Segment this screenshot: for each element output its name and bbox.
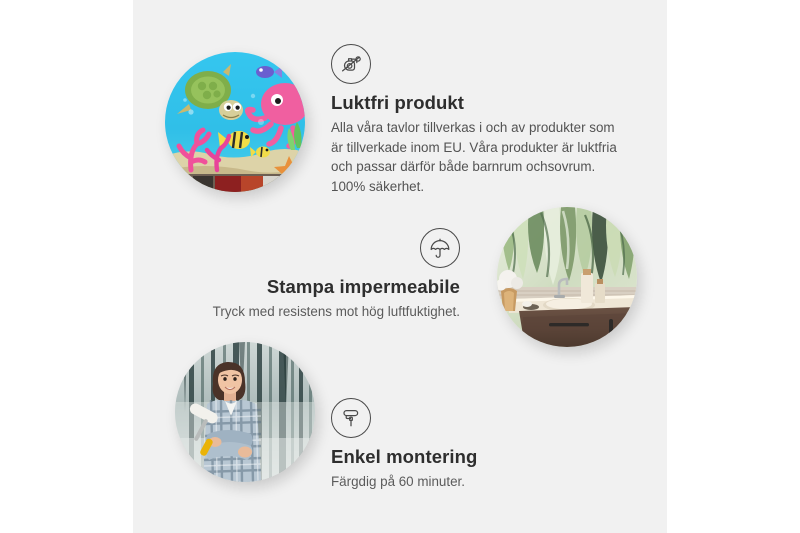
feature-description: Tryck med resistens mot hög luftfuktighe…	[200, 302, 460, 321]
no-spray-bottle-icon	[331, 44, 371, 84]
paint-roller-icon	[331, 398, 371, 438]
feature-description: Alla våra tavlor tillverkas i och av pro…	[331, 118, 621, 196]
feature-waterproof: Stampa impermeabile Tryck med resistens …	[200, 228, 460, 322]
feature-description: Färgdig på 60 minuter.	[331, 472, 581, 491]
feature-title: Stampa impermeabile	[200, 276, 460, 298]
product-photo-woman-paint-roller	[175, 342, 315, 482]
feature-odorless: Luktfri produkt Alla våra tavlor tillver…	[331, 44, 621, 196]
umbrella-icon	[420, 228, 460, 268]
feature-title: Luktfri produkt	[331, 92, 621, 114]
product-photo-underwater-scene	[165, 52, 305, 192]
feature-easy-mounting: Enkel montering Färgdig på 60 minuter.	[331, 398, 581, 492]
promo-banner: Luktfri produkt Alla våra tavlor tillver…	[0, 0, 800, 533]
feature-title: Enkel montering	[331, 446, 581, 468]
product-photo-bathroom-botanical	[497, 207, 637, 347]
